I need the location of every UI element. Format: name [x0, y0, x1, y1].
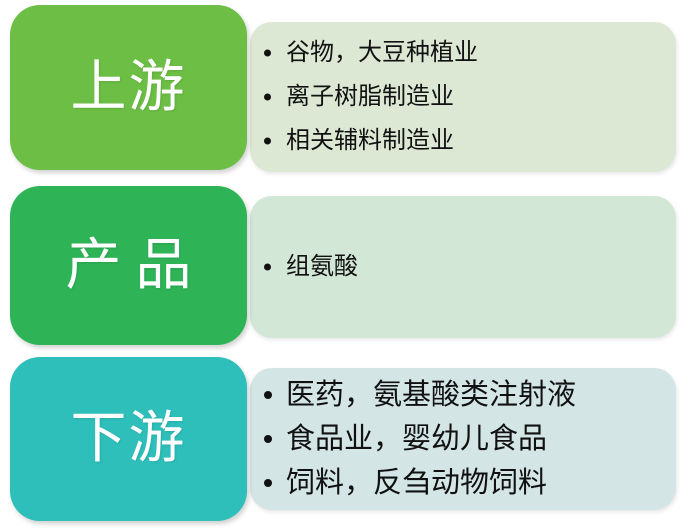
stage-panel-downstream: 医药，氨基酸类注射液 食品业，婴幼儿食品 饲料，反刍动物饲料	[250, 368, 676, 510]
downstream-item-list: 医药，氨基酸类注射液 食品业，婴幼儿食品 饲料，反刍动物饲料	[262, 373, 666, 505]
bullet-dot-icon	[264, 479, 272, 487]
list-item: 组氨酸	[262, 247, 666, 287]
stage-label-downstream[interactable]: 下游	[10, 357, 247, 521]
product-item-list: 组氨酸	[262, 247, 666, 287]
list-item: 离子树脂制造业	[262, 75, 666, 119]
bullet-dot-icon	[264, 264, 271, 271]
bullet-dot-icon	[264, 435, 272, 443]
list-item-label: 组氨酸	[286, 254, 358, 280]
stage-panel-product: 组氨酸	[250, 196, 676, 338]
bullet-dot-icon	[264, 138, 271, 145]
list-item: 谷物，大豆种植业	[262, 31, 666, 75]
stage-label-product-text: 产品	[52, 238, 206, 294]
list-item-label: 相关辅料制造业	[286, 128, 454, 154]
list-item: 饲料，反刍动物饲料	[262, 461, 666, 505]
list-item-label: 饲料，反刍动物饲料	[286, 467, 547, 499]
list-item-label: 医药，氨基酸类注射液	[286, 379, 576, 411]
value-chain-diagram: 上游 谷物，大豆种植业 离子树脂制造业 相关辅料制造业 产品	[0, 0, 688, 531]
bullet-dot-icon	[264, 94, 271, 101]
bullet-dot-icon	[264, 50, 271, 57]
stage-panel-upstream: 谷物，大豆种植业 离子树脂制造业 相关辅料制造业	[250, 22, 676, 172]
list-item-label: 离子树脂制造业	[286, 84, 454, 110]
stage-label-upstream-text: 上游	[71, 60, 187, 116]
list-item-label: 谷物，大豆种植业	[286, 40, 478, 66]
stage-label-downstream-text: 下游	[71, 411, 187, 467]
list-item: 食品业，婴幼儿食品	[262, 417, 666, 461]
list-item-label: 食品业，婴幼儿食品	[286, 423, 547, 455]
bullet-dot-icon	[264, 391, 272, 399]
list-item: 医药，氨基酸类注射液	[262, 373, 666, 417]
stage-label-upstream[interactable]: 上游	[10, 5, 247, 170]
list-item: 相关辅料制造业	[262, 119, 666, 163]
upstream-item-list: 谷物，大豆种植业 离子树脂制造业 相关辅料制造业	[262, 31, 666, 163]
stage-label-product[interactable]: 产品	[10, 186, 247, 345]
